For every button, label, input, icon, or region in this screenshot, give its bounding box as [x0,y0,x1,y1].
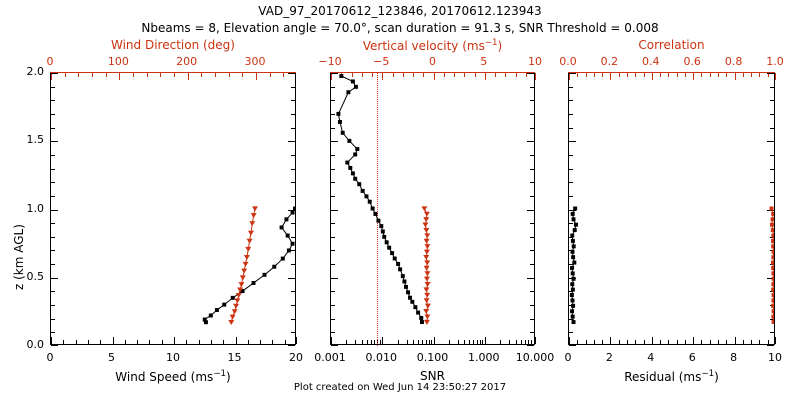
data-point-marker [281,257,285,261]
data-point-marker [233,304,239,309]
data-point-marker [249,221,255,226]
y-tick-label: 0.5 [4,270,44,283]
data-point-marker [424,250,430,255]
data-point-marker [570,309,574,313]
data-point-marker [243,262,249,267]
data-point-marker [413,305,417,309]
data-point-marker [771,212,774,216]
data-point-marker [240,275,246,280]
data-point-marker [424,239,430,244]
data-point-marker [771,282,774,286]
y-major-tick [569,345,576,346]
data-point-marker [424,244,430,249]
data-point-marker [404,285,408,289]
data-point-marker [398,267,402,271]
data-point-marker [248,231,254,236]
data-point-marker [770,207,774,211]
data-point-marker [230,315,236,320]
data-point-marker [570,266,574,270]
data-point-marker [425,304,431,309]
plot-panel-1 [50,72,296,345]
data-point-marker [381,230,385,234]
y-tick-label: 1.0 [4,202,44,215]
data-point-marker [423,309,429,314]
data-point-marker [572,261,576,265]
data-point-marker [387,246,391,250]
data-point-marker [422,223,428,228]
data-point-marker [771,304,774,308]
data-point-marker [771,288,774,292]
data-point-marker [355,147,359,151]
data-point-marker [238,282,244,287]
data-point-marker [376,219,380,223]
data-point-marker [348,166,352,170]
y-major-tick [51,345,58,346]
data-point-marker [336,112,340,116]
data-point-marker [364,194,368,198]
data-point-marker [424,314,430,319]
series-correlation [770,207,774,325]
data-point-marker [424,271,430,276]
data-point-marker [571,304,575,308]
data-point-marker [571,255,575,259]
data-point-marker [385,240,389,244]
data-point-marker [572,320,576,324]
data-point-marker [424,266,430,271]
data-point-marker [410,300,414,304]
data-point-marker [574,223,578,227]
data-point-marker [291,242,295,246]
data-point-marker [424,212,430,217]
data-point-marker [351,171,355,175]
data-point-marker [286,234,290,238]
data-point-marker [361,189,365,193]
y-major-tick [767,345,774,346]
data-point-marker [772,320,774,324]
x-major-tick [535,337,536,344]
series-layer [51,73,295,344]
data-point-marker [424,260,430,265]
series-wind-direction [228,206,258,325]
data-point-marker [423,228,429,233]
data-point-marker [390,251,394,255]
data-point-marker [772,293,774,297]
data-point-marker [379,224,383,228]
data-point-marker [420,320,424,324]
data-point-marker [771,239,774,243]
x-top-major-tick [535,73,536,80]
data-point-marker [772,250,774,254]
data-point-marker [203,318,207,322]
y-major-tick [331,345,338,346]
data-point-marker [341,131,345,135]
data-point-marker [424,233,430,238]
x-top-tick-label: 1.0 [735,55,800,68]
data-point-marker [373,212,377,216]
data-point-marker [572,217,576,221]
x-top-axis-label: Correlation [568,38,775,52]
data-point-marker [345,161,349,165]
data-point-marker [247,239,253,244]
series-vertical-velocity [421,206,430,324]
data-point-marker [572,244,576,248]
data-point-marker [570,234,574,238]
data-point-marker [425,282,431,287]
data-point-marker [421,206,427,211]
data-point-marker [354,85,358,89]
data-point-marker [423,287,429,292]
data-point-marker [393,257,397,261]
data-point-marker [771,244,774,248]
data-point-marker [573,228,577,232]
data-point-marker [209,313,213,317]
data-point-marker [228,320,234,325]
data-point-marker [571,250,575,254]
data-point-marker [339,74,343,78]
data-point-marker [287,248,291,252]
data-point-marker [771,271,774,275]
data-point-marker [232,309,238,314]
plot-panel-2 [330,72,535,345]
x-tick-label: 10 [735,351,800,364]
data-point-marker [771,315,774,319]
data-point-marker [251,213,257,218]
data-point-marker [402,280,406,284]
data-point-marker [222,303,226,307]
x-top-major-tick [775,73,776,80]
data-point-marker [353,177,357,181]
data-point-marker [272,265,276,269]
data-point-marker [571,315,575,319]
y-major-tick [288,345,295,346]
data-point-marker [771,217,774,221]
data-point-marker [284,217,288,221]
data-point-marker [424,298,430,303]
data-point-marker [771,255,774,259]
plot-footer-timestamp: Plot created on Wed Jun 14 23:50:27 2017 [0,382,800,393]
data-point-marker [571,271,575,275]
y-tick-label: 2.0 [4,65,44,78]
data-point-marker [396,262,400,266]
data-point-marker [338,120,342,124]
data-point-marker [401,274,405,278]
data-point-marker [771,266,774,270]
series-residual [570,207,578,325]
data-point-marker [291,211,295,215]
data-point-marker [571,288,575,292]
data-point-marker [416,311,420,315]
figure-title: VAD_97_20170612_123846, 20170612.123943 [0,4,800,18]
data-point-marker [231,296,235,300]
vad-plot-figure: VAD_97_20170612_123846, 20170612.123943 … [0,0,800,400]
y-tick-label: 1.5 [4,133,44,146]
data-point-marker [423,255,429,260]
data-point-marker [423,217,429,222]
data-point-marker [280,225,284,229]
data-point-marker [241,269,247,274]
data-point-marker [570,293,574,297]
x-top-tick-label: 300 [215,55,295,68]
data-point-marker [419,316,423,320]
data-point-marker [382,235,386,239]
data-point-marker [347,139,351,143]
x-top-axis-label: Vertical velocity (ms−1) [330,38,535,53]
data-point-marker [406,290,410,294]
y-tick-label: 0.0 [4,338,44,351]
data-point-marker [424,293,430,298]
data-point-marker [408,296,412,300]
data-point-marker [252,281,256,285]
data-point-marker [215,308,219,312]
data-point-marker [572,277,576,281]
data-point-marker [771,261,774,265]
y-major-tick [527,345,534,346]
data-point-marker [772,309,774,313]
data-point-marker [263,273,267,277]
data-point-marker [353,152,357,156]
x-bottom-axis-label: SNR [330,369,535,383]
data-point-marker [252,206,258,211]
data-point-marker [771,298,774,302]
data-point-marker [234,298,240,303]
data-point-marker [571,212,575,216]
data-point-marker [770,223,774,227]
data-point-marker [771,228,774,232]
data-point-marker [570,282,574,286]
series-layer [331,73,534,344]
data-point-marker [351,79,355,83]
data-point-marker [346,90,350,94]
data-point-marker [424,320,430,325]
data-point-marker [357,182,361,186]
x-top-axis-label: Wind Direction (deg) [50,38,296,52]
data-point-marker [772,277,774,281]
data-point-marker [771,234,774,238]
series-snr [336,74,424,324]
data-point-marker [571,239,575,243]
x-major-tick [775,337,776,344]
data-point-marker [293,207,295,211]
x-major-tick [296,337,297,344]
data-point-marker [368,200,372,204]
plot-panel-3 [568,72,775,345]
series-layer [569,73,774,344]
series-line [338,76,422,322]
series-wind-speed [203,207,295,325]
data-point-marker [573,207,577,211]
data-point-marker [424,277,430,282]
data-point-marker [244,255,250,260]
data-point-marker [371,207,375,211]
data-point-marker [571,298,575,302]
data-point-marker [245,247,251,252]
figure-subtitle: Nbeams = 8, Elevation angle = 70.0°, sca… [0,21,800,35]
